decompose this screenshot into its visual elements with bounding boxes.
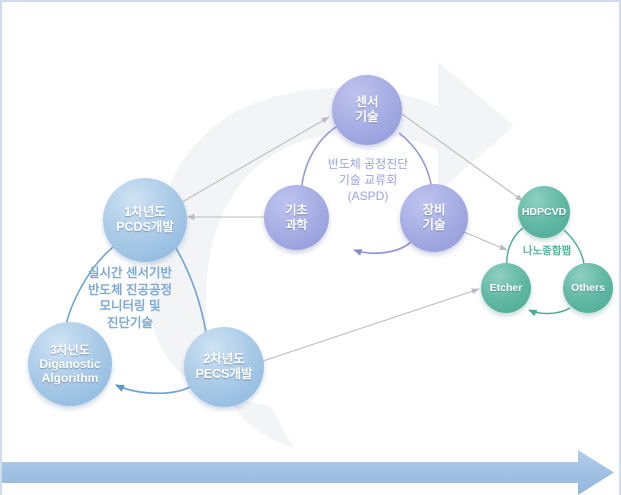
project-center-label-line3: 모니터링 및 <box>60 298 200 315</box>
node-basic-science-line2: 과학 <box>285 218 307 232</box>
node-year1-pcds-line1: 1차년도 <box>124 205 165 220</box>
nanofab-center-label: 나노종합팹 <box>507 245 587 259</box>
project-center-label-line2: 반도체 진공공정 <box>60 282 200 299</box>
aspd-center-label-line1: 반도체 공정진단 <box>300 157 436 173</box>
node-year3-diagnostic[interactable]: 3차년도 Diganostic Algorithm <box>28 322 112 406</box>
project-center-label-line4: 진단기술 <box>60 315 200 332</box>
node-year2-pecs[interactable]: 2차년도 PECS개발 <box>184 327 264 407</box>
node-equipment-technology-line2: 기술 <box>422 218 445 233</box>
project-center-label: 실시간 센서기반 반도체 진공공정 모니터링 및 진단기술 <box>60 265 200 331</box>
node-year3-diagnostic-line2: Diganostic <box>39 357 100 371</box>
node-year1-pcds-line2: PCDS개발 <box>116 220 174 235</box>
node-basic-science-line1: 기초 <box>285 203 307 217</box>
node-hdpcvd[interactable]: HDPCVD <box>518 186 570 238</box>
node-sensor-technology-line1: 센서 <box>355 95 378 110</box>
node-others-label: Others <box>571 282 605 294</box>
node-year3-diagnostic-line3: Algorithm <box>42 371 99 385</box>
nanofab-center-label-line1: 나노종합팹 <box>507 245 587 259</box>
aspd-center-label: 반도체 공정진단 기술 교류회 (ASPD) <box>300 157 436 204</box>
node-year3-diagnostic-line1: 3차년도 <box>50 343 90 357</box>
node-etcher-label: Etcher <box>490 282 523 294</box>
node-sensor-technology-line2: 기술 <box>355 110 378 125</box>
node-year1-pcds[interactable]: 1차년도 PCDS개발 <box>103 178 187 262</box>
node-equipment-technology-line1: 장비 <box>422 203 445 218</box>
aspd-center-label-line3: (ASPD) <box>300 189 436 205</box>
node-year2-pecs-line1: 2차년도 <box>203 352 244 367</box>
node-others[interactable]: Others <box>563 263 613 313</box>
diagram-canvas: 센서 기술 기초 과학 장비 기술 반도체 공정진단 기술 교류회 (ASPD)… <box>0 0 621 495</box>
node-sensor-technology[interactable]: 센서 기술 <box>332 75 402 145</box>
aspd-center-label-line2: 기술 교류회 <box>300 173 436 189</box>
bottom-timeline-arrow <box>2 450 614 495</box>
project-center-label-line1: 실시간 센서기반 <box>60 265 200 282</box>
node-hdpcvd-label: HDPCVD <box>522 206 566 218</box>
node-etcher[interactable]: Etcher <box>481 263 531 313</box>
node-year2-pecs-line2: PECS개발 <box>195 367 252 382</box>
